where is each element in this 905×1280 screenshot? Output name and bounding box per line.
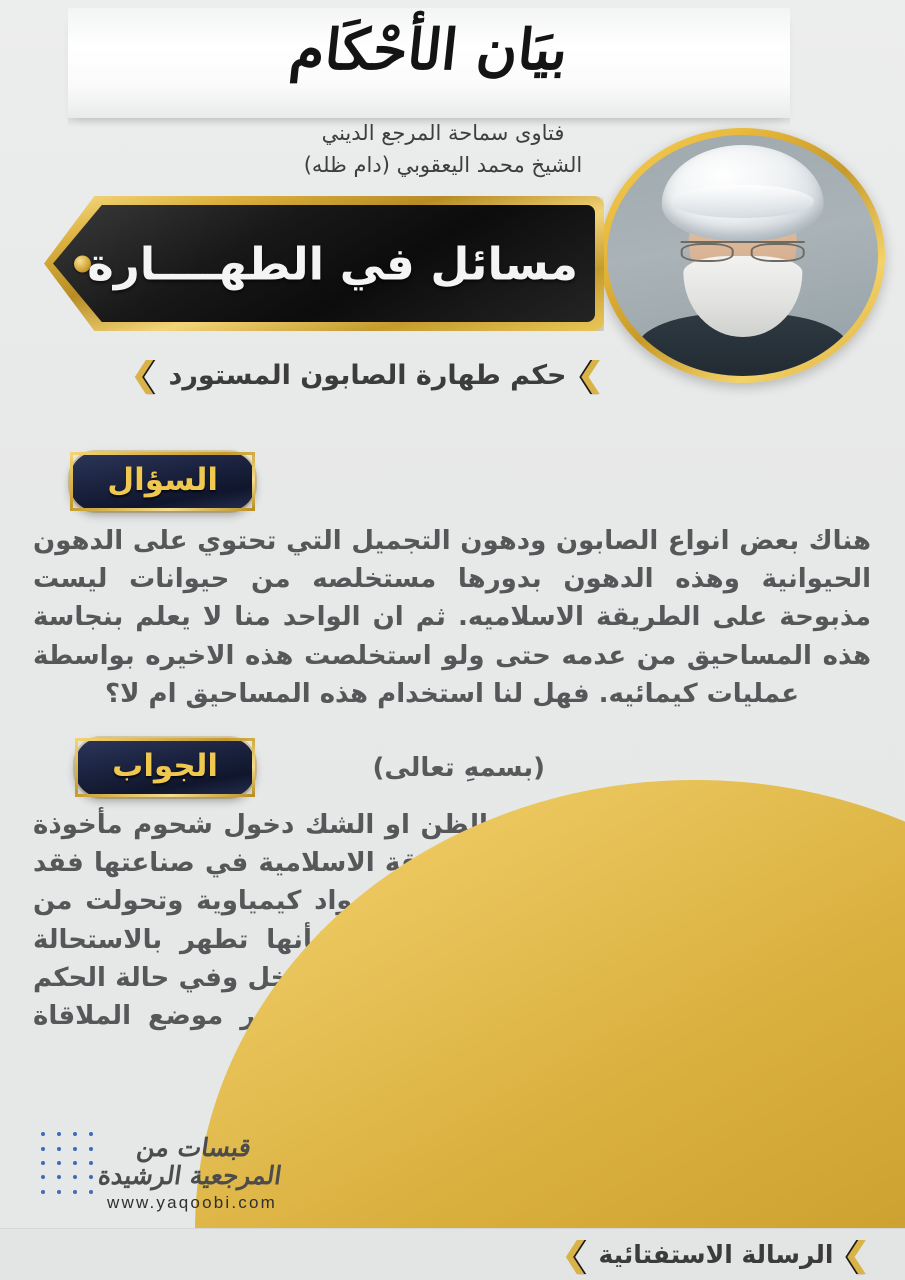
basmala-text: (بسمهِ تعالى) [372, 753, 545, 783]
footer-chevron-left-icon: ❮ [561, 1238, 590, 1272]
calligraphy-title: بيَان الأحْكَام [65, 22, 793, 78]
infographic-page: بيَان الأحْكَام فتاوى سماحة المرجع الدين… [0, 0, 905, 1280]
bottom-bar-label: الرسالة الاستفتائية [598, 1240, 833, 1269]
chevron-left-icon: ❮ [130, 358, 159, 392]
chevron-right-icon: ❯ [577, 358, 606, 392]
bottom-bar-content: ❯ الرسالة الاستفتائية ❮ [561, 1238, 871, 1272]
question-body-text: هناك بعض انواع الصابون ودهون التجميل الت… [33, 522, 871, 713]
answer-badge: الجواب [75, 738, 255, 797]
bottom-bar: ❯ الرسالة الاستفتائية ❮ [0, 1228, 905, 1280]
marja-line-1: فتاوى سماحة المرجع الديني [233, 118, 653, 150]
portrait-image [607, 135, 878, 376]
website-url[interactable]: www.yaqoobi.com [92, 1193, 292, 1213]
portrait-frame [600, 128, 885, 383]
topic-line: ❯ حكم طهارة الصابون المستورد ❮ [130, 358, 605, 392]
main-title-banner: مسائل في الطهــــارة [44, 196, 604, 331]
portrait-glasses-shape [680, 241, 805, 258]
topic-label: حكم طهارة الصابون المستورد [169, 360, 567, 391]
header-banner-strip: بيَان الأحْكَام [68, 8, 790, 118]
footer-chevron-right-icon: ❯ [843, 1238, 872, 1272]
portrait-turban-shape [661, 145, 824, 241]
marja-line-2: الشيخ محمد اليعقوبي (دام ظله) [233, 150, 653, 182]
footer-logo: قبسات من المرجعية الرشيدة www.yaqoobi.co… [92, 1134, 292, 1213]
footer-logo-calligraphy: قبسات من المرجعية الرشيدة [88, 1134, 296, 1189]
main-title-text: مسائل في الطهــــارة [104, 237, 578, 290]
marja-subtitle: فتاوى سماحة المرجع الديني الشيخ محمد الي… [233, 118, 653, 181]
question-badge: السؤال [70, 452, 255, 511]
